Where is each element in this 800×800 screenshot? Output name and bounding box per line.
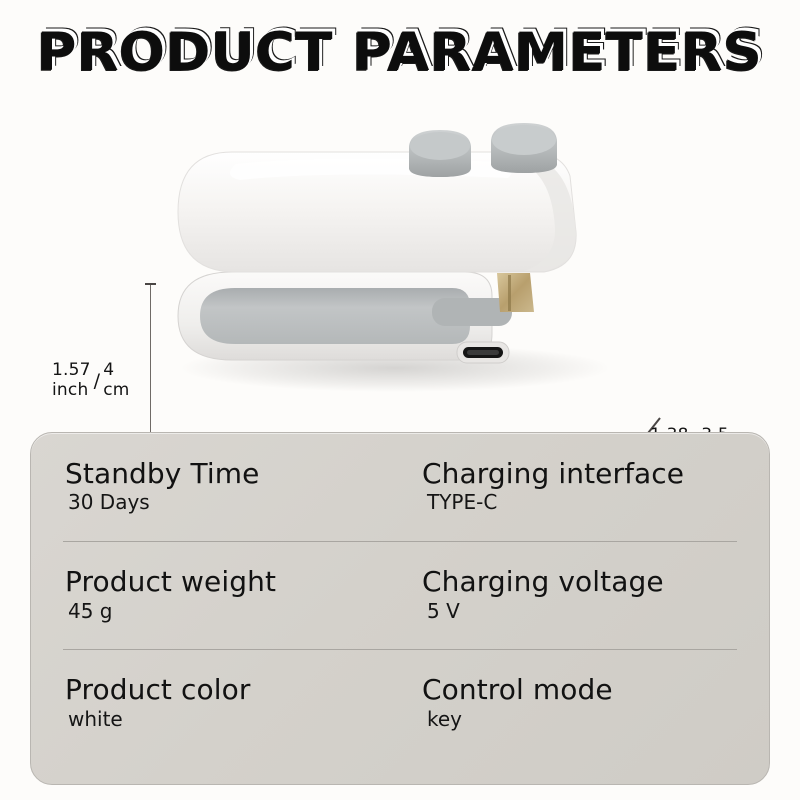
page-title: PRODUCT PARAMETERS — [37, 22, 763, 83]
sealing-channel — [200, 288, 470, 344]
spec-label: Charging interface — [422, 458, 737, 489]
spec-label: Control mode — [422, 674, 737, 705]
spec-value: key — [422, 706, 737, 733]
spec-label: Product color — [65, 674, 400, 705]
seal-button-top[interactable] — [492, 125, 556, 155]
spec-cell-product-color: Product color white — [63, 674, 400, 732]
spec-value: 30 Days — [65, 489, 400, 516]
specifications-panel: Standby Time 30 Days Charging interface … — [30, 432, 770, 785]
spec-cell-product-weight: Product weight 45 g — [63, 566, 400, 624]
heating-element — [497, 273, 534, 312]
height-cm-value: 4 — [103, 360, 129, 380]
product-parameters-page: PRODUCT PARAMETERS — [0, 0, 800, 800]
spec-label: Charging voltage — [422, 566, 737, 597]
spec-value: white — [65, 706, 400, 733]
heating-element-wire — [508, 275, 511, 311]
height-cm-unit: cm — [103, 380, 129, 400]
spec-value: 5 V — [422, 598, 737, 625]
title-container: PRODUCT PARAMETERS — [0, 22, 800, 83]
height-dimension-label: 1.57 inch / 4 cm — [52, 360, 147, 400]
product-image-area: 1.57 inch / 4 cm 3.74 inch / 9.5 cm 1.38… — [0, 120, 800, 420]
spec-cell-standby-time: Standby Time 30 Days — [63, 458, 400, 516]
height-inch-value: 1.57 — [52, 360, 91, 380]
spec-row: Product color white Control mode key — [63, 649, 737, 757]
spec-cell-charging-voltage: Charging voltage 5 V — [400, 566, 737, 624]
usb-c-port-inner — [467, 350, 499, 355]
height-inch-unit: inch — [52, 380, 91, 400]
spec-label: Product weight — [65, 566, 400, 597]
spec-value: TYPE-C — [422, 489, 737, 516]
spec-cell-charging-interface: Charging interface TYPE-C — [400, 458, 737, 516]
height-separator: / — [94, 370, 101, 392]
spec-cell-control-mode: Control mode key — [400, 674, 737, 732]
spec-label: Standby Time — [65, 458, 400, 489]
spec-value: 45 g — [65, 598, 400, 625]
power-button-top[interactable] — [410, 132, 470, 160]
spec-row: Standby Time 30 Days Charging interface … — [63, 433, 737, 541]
spec-row: Product weight 45 g Charging voltage 5 V — [63, 541, 737, 649]
